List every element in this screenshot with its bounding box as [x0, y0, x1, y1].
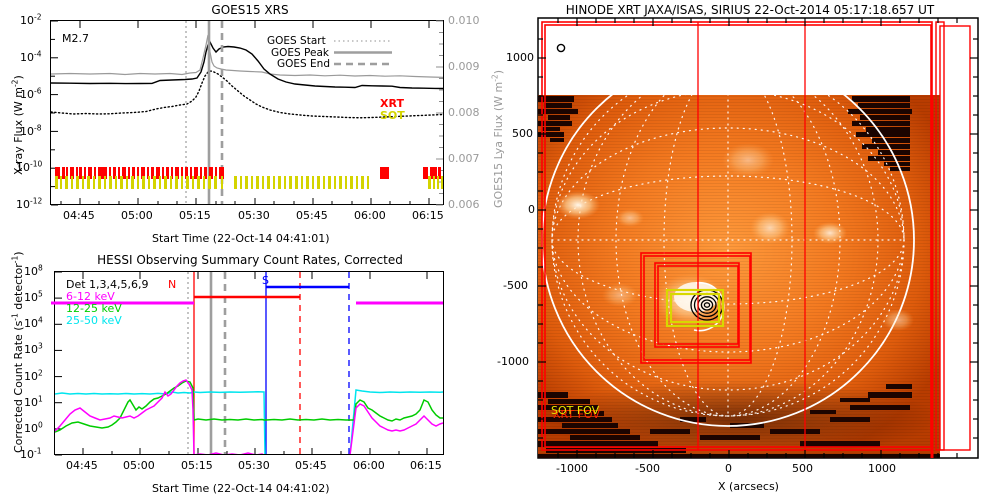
xrt-ytick-2: 0	[528, 203, 535, 216]
hessi-xtick-3: 05:30	[238, 459, 270, 472]
hessi-panel: HESSI Observing Summary Count Rates, Cor…	[0, 250, 500, 500]
goes-ytick-3: 10-8	[20, 125, 41, 138]
goes-ytick-4: 10-10	[16, 161, 42, 174]
goes-ytick-right-4: 0.006	[448, 198, 480, 211]
goes-ytick-right-1: 0.009	[448, 60, 480, 73]
hessi-xtick-4: 05:45	[295, 459, 327, 472]
marker-n-label: N	[168, 278, 176, 291]
hessi-xtick-0: 04:45	[66, 459, 98, 472]
band-12-25-curve	[55, 381, 443, 432]
hessi-xtick-6: 06:15	[410, 459, 442, 472]
goes-ytick-right-2: 0.008	[448, 106, 480, 119]
xrt-ytick-1: 500	[512, 127, 533, 140]
legend-goes-start: GOES Start	[267, 35, 326, 47]
goes-ytick-0: 10-2	[20, 14, 41, 27]
goes-xtick-6: 06:15	[412, 209, 444, 222]
figure-root: GOES15 XRS M2.7 X-ray Flux (W m-2) GOES1…	[0, 0, 1000, 500]
hessi-ytick-7: 10-1	[20, 448, 41, 461]
goes-xtick-5: 06:00	[354, 209, 386, 222]
hessi-ytick-2: 104	[24, 317, 43, 330]
goes-xtick-3: 05:30	[238, 209, 270, 222]
xrt-xtick-0: -1000	[556, 462, 588, 475]
hessi-xtick-1: 05:00	[123, 459, 155, 472]
goes-xtick-4: 05:45	[296, 209, 328, 222]
xrt-ytick-3: -500	[503, 279, 528, 292]
xrt-ytick-0: 1000	[506, 51, 534, 64]
legend-goes-end: GOES End	[277, 58, 330, 70]
pointing-circle-marker	[557, 44, 564, 51]
goes-long-curve	[51, 42, 443, 89]
band-label-25-50: 25-50 keV	[66, 314, 122, 327]
hessi-xtick-2: 05:15	[181, 459, 213, 472]
hessi-ytick-0: 108	[24, 265, 43, 278]
goes-ytick-right-0: 0.010	[448, 14, 480, 27]
goes-xtick-0: 04:45	[63, 209, 95, 222]
goes-ytick-1: 10-4	[20, 51, 41, 64]
goes-ytick-2: 10-6	[20, 88, 41, 101]
sot-fov-text: SOT FOV	[551, 404, 600, 417]
goes-xtick-1: 05:00	[121, 209, 153, 222]
xrt-xtick-2: 0	[725, 462, 732, 475]
hessi-ytick-6: 100	[24, 422, 43, 435]
goes-legend-lines	[334, 41, 392, 64]
xrt-xtick-1: -500	[635, 462, 660, 475]
xrt-ytick-4: -1000	[497, 355, 529, 368]
hessi-ytick-1: 105	[24, 291, 43, 304]
xrt-image-svg: XRT FOV SOT FOV	[500, 0, 1000, 500]
legend-goes-peak: GOES Peak	[271, 47, 329, 59]
marker-s-label: S	[262, 274, 269, 287]
xrt-panel: HINODE XRT JAXA/ISAS, SIRIUS 22-Oct-2014…	[500, 0, 1000, 500]
goes-ytick-right-3: 0.007	[448, 152, 480, 165]
hessi-ytick-3: 103	[24, 343, 43, 356]
goes-xtick-2: 05:15	[179, 209, 211, 222]
xrt-xlabel: X (arcsecs)	[718, 480, 779, 493]
hessi-xtick-5: 06:00	[353, 459, 385, 472]
band-6-12-curve	[55, 380, 443, 455]
goes-panel: GOES15 XRS M2.7 X-ray Flux (W m-2) GOES1…	[0, 0, 500, 250]
xrt-xtick-4: 1000	[868, 462, 896, 475]
xrt-xtick-3: 500	[792, 462, 813, 475]
goes-ytick-5: 10-12	[16, 198, 42, 211]
sot-tag: SOT	[380, 109, 405, 122]
hessi-ytick-4: 102	[24, 370, 43, 383]
band-25-50-curve	[55, 390, 443, 455]
hessi-ytick-5: 101	[24, 396, 43, 409]
